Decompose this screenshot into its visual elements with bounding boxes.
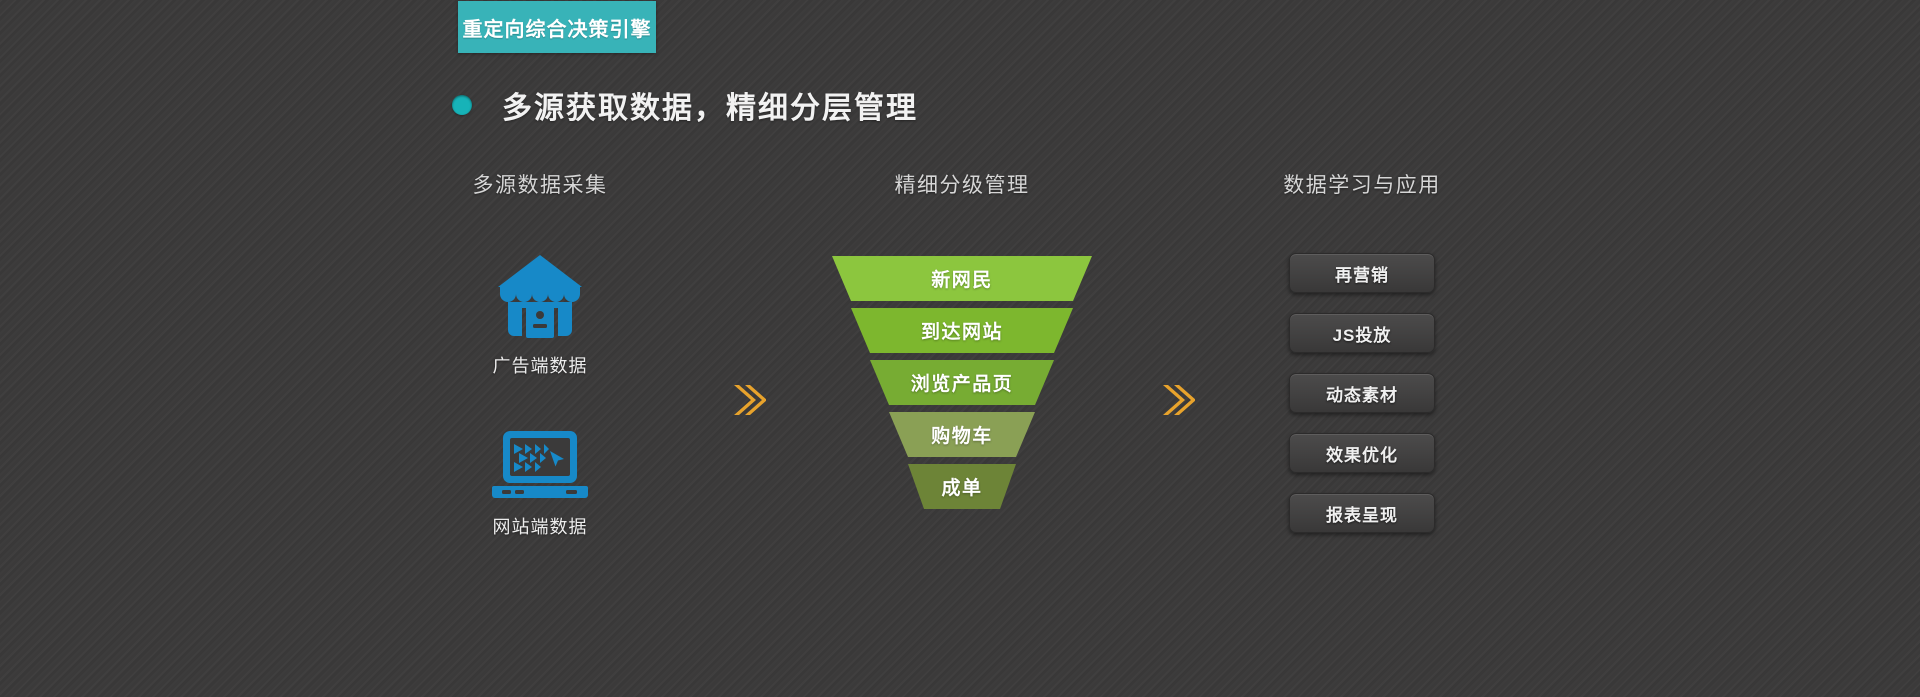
funnel-stage: 成单 <box>832 464 1092 509</box>
funnel-chart: 新网民 到达网站 浏览产品页 购物车 成单 <box>832 256 1092 516</box>
action-button-performance-optimization[interactable]: 效果优化 <box>1289 433 1435 473</box>
funnel-stage: 购物车 <box>832 412 1092 457</box>
action-button-remarketing[interactable]: 再营销 <box>1289 253 1435 293</box>
funnel-stage-label: 浏览产品页 <box>911 369 1014 396</box>
funnel-stage-label: 到达网站 <box>921 317 1003 344</box>
headline-text: 多源获取数据，精细分层管理 <box>502 83 918 127</box>
slide-canvas: 重定向综合决策引擎 多源获取数据，精细分层管理 多源数据采集 精细分级管理 数据… <box>0 0 1920 697</box>
funnel-stage: 到达网站 <box>832 308 1092 353</box>
action-button-js-delivery[interactable]: JS投放 <box>1289 313 1435 353</box>
action-button-list: 再营销 JS投放 动态素材 效果优化 报表呈现 <box>1289 253 1435 533</box>
column-header-right: 数据学习与应用 <box>1283 169 1441 199</box>
double-chevron-right-icon <box>726 378 772 422</box>
funnel-stage: 新网民 <box>832 256 1092 301</box>
action-button-label: 再营销 <box>1335 261 1389 286</box>
double-chevron-right-icon <box>1155 378 1201 422</box>
source-item-ad-data: 广告端数据 <box>420 248 660 378</box>
source-label: 网站端数据 <box>420 513 660 539</box>
action-button-reporting[interactable]: 报表呈现 <box>1289 493 1435 533</box>
bullet-dot-icon <box>452 95 472 115</box>
slide-title-badge: 重定向综合决策引擎 <box>458 1 656 53</box>
column-header-middle: 精细分级管理 <box>895 169 1030 199</box>
slide-title-text: 重定向综合决策引擎 <box>463 13 652 42</box>
source-item-site-data: 网站端数据 <box>420 425 660 539</box>
funnel-stage-label: 购物车 <box>931 421 993 448</box>
headline: 多源获取数据，精细分层管理 <box>452 83 918 127</box>
action-button-dynamic-creative[interactable]: 动态素材 <box>1289 373 1435 413</box>
action-button-label: 动态素材 <box>1326 381 1398 406</box>
funnel-stage-label: 新网民 <box>931 265 993 292</box>
source-label: 广告端数据 <box>420 352 660 378</box>
funnel-stage: 浏览产品页 <box>832 360 1092 405</box>
storefront-icon <box>420 248 660 340</box>
funnel-stage-label: 成单 <box>941 473 982 500</box>
column-header-left: 多源数据采集 <box>473 169 608 199</box>
laptop-icon <box>420 425 660 501</box>
action-button-label: 报表呈现 <box>1326 501 1398 526</box>
action-button-label: JS投放 <box>1333 321 1392 346</box>
action-button-label: 效果优化 <box>1326 441 1398 466</box>
